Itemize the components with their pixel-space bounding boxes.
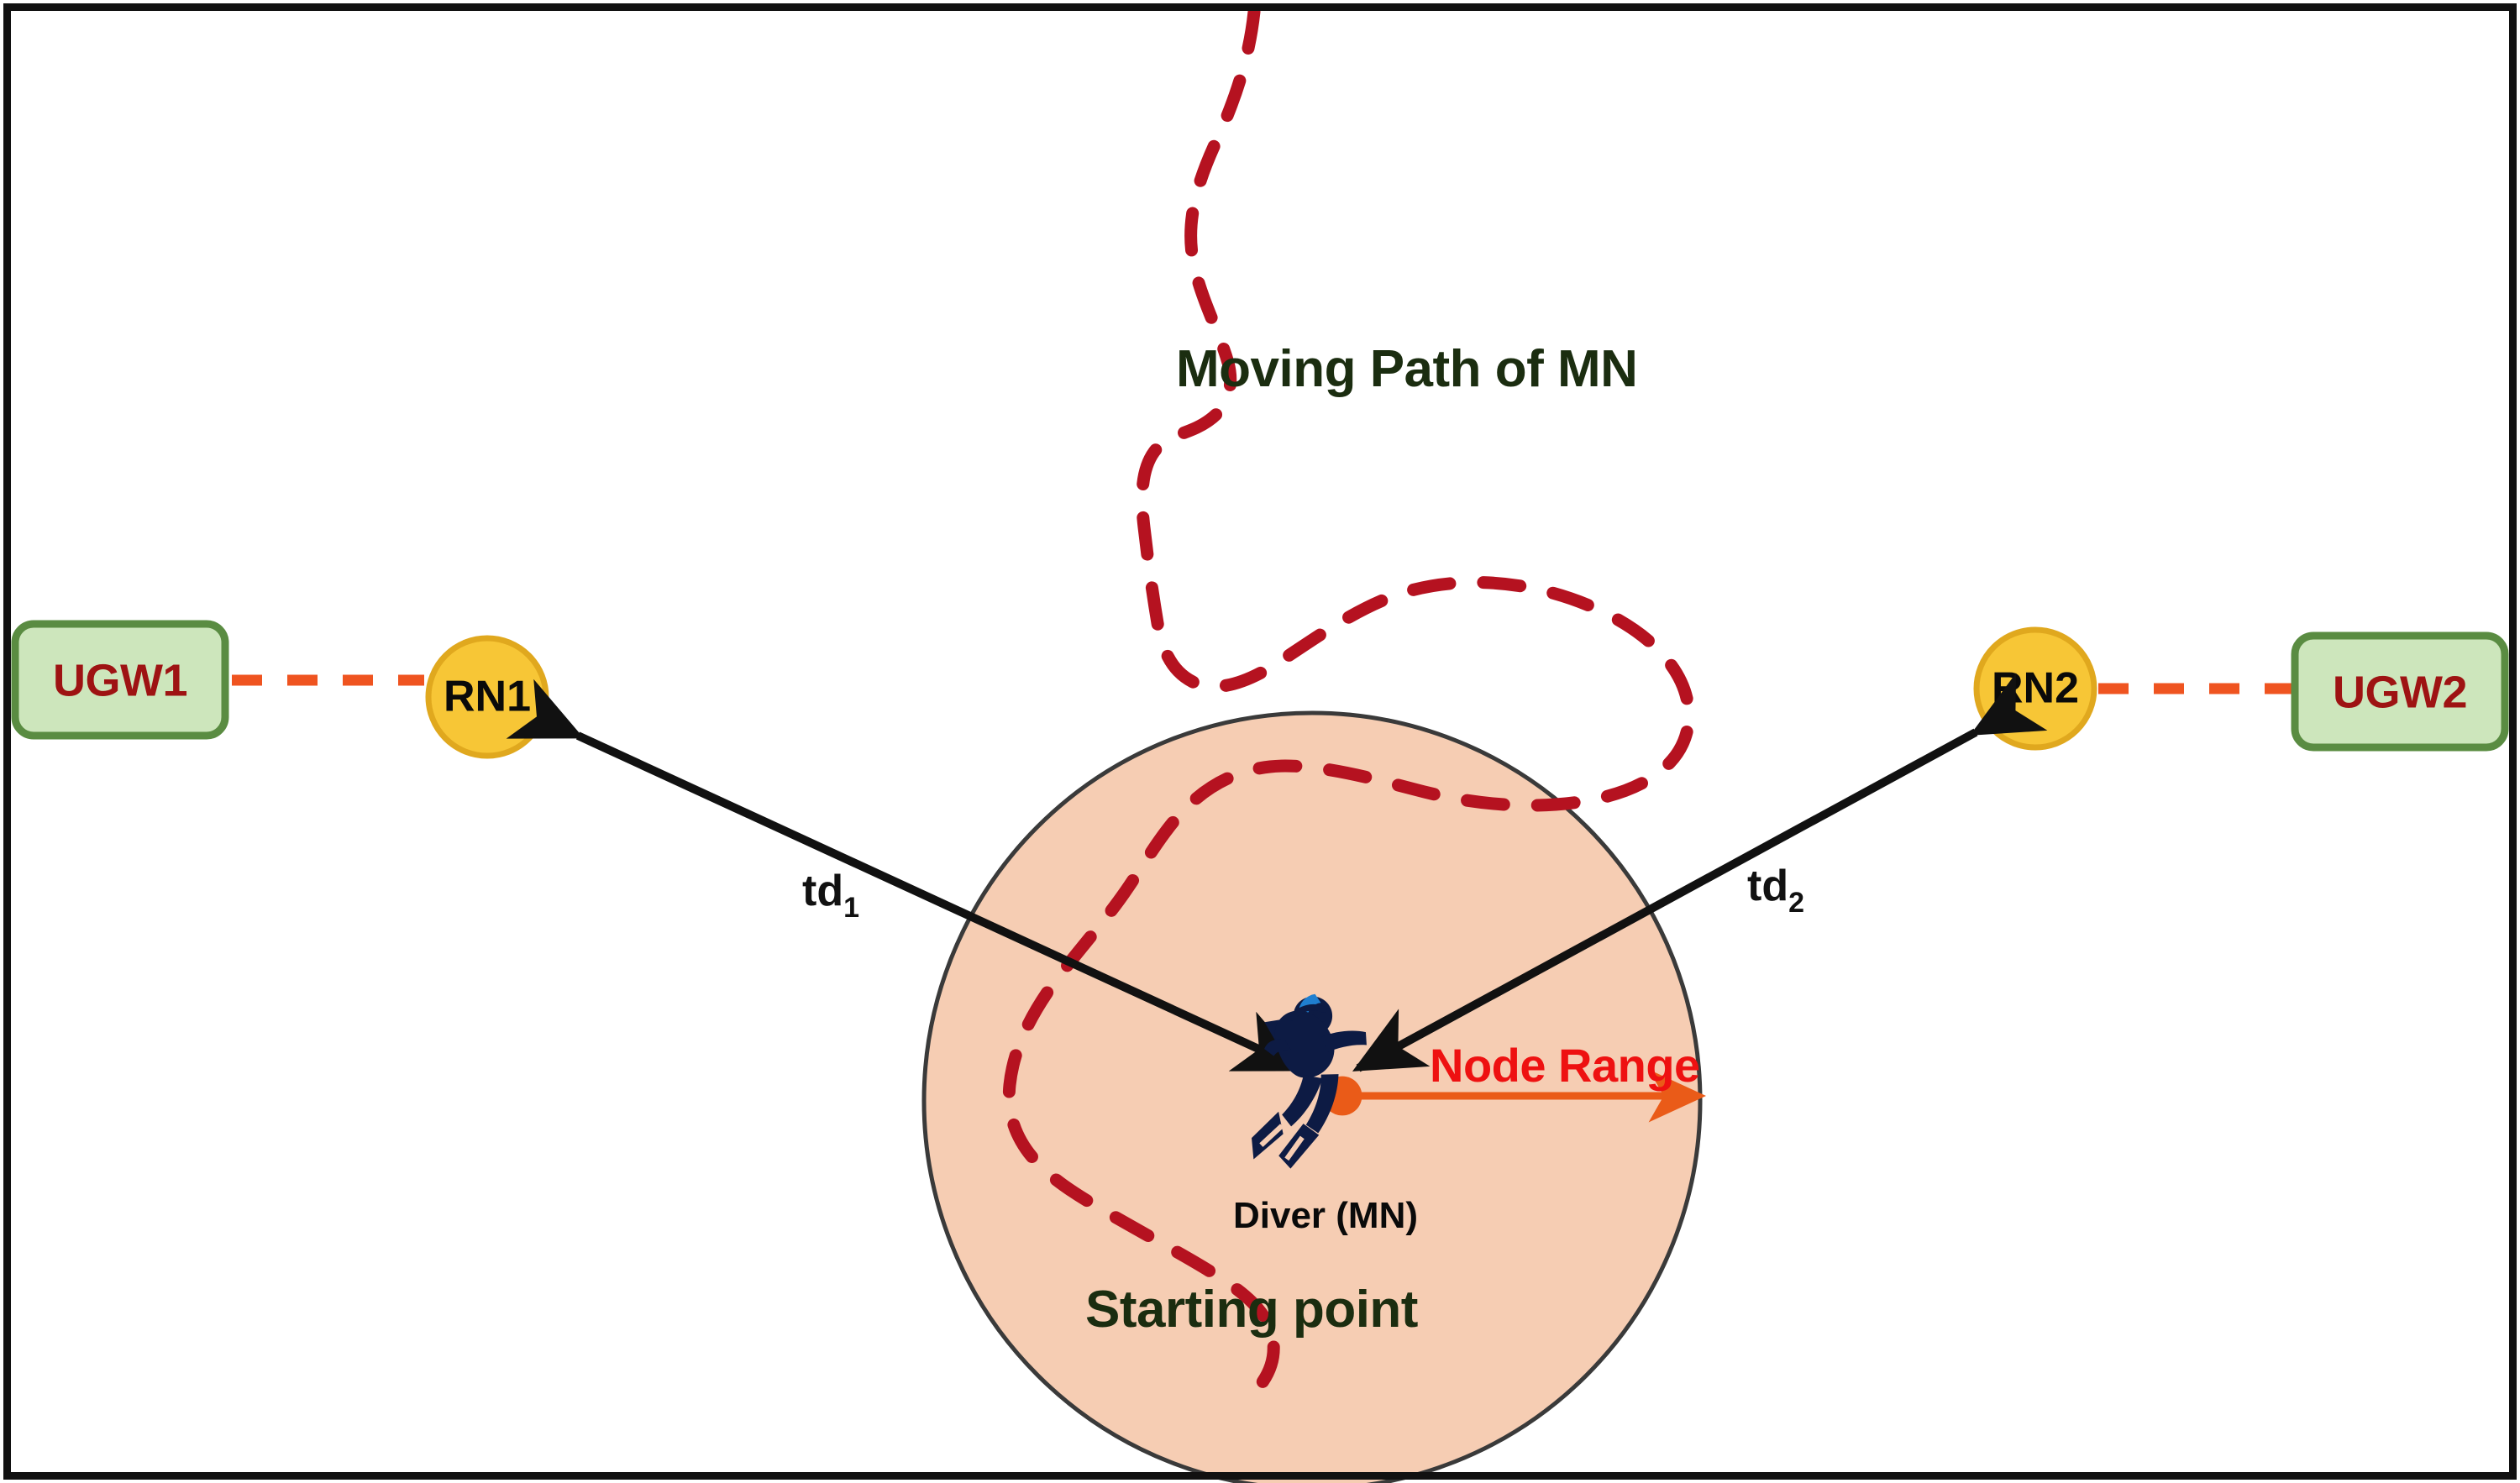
figure-root: Moving Path of MN UGW1 RN1 RN2 UGW2 [0,0,2520,1483]
distance-label-td1: td1 [802,867,859,924]
diver-label: Diver (MN) [1233,1195,1418,1236]
relay-node-rn2-label: RN2 [1992,664,2079,713]
gateway-ugw2[interactable]: UGW2 [2295,636,2505,747]
td1-symbol: td [802,867,843,915]
node-range-label: Node Range [1430,1039,1700,1092]
td1-subscript: 1 [843,892,859,924]
starting-point-label: Starting point [1085,1281,1418,1339]
distance-label-td2: td2 [1747,862,1804,919]
svg-text:td2: td2 [1747,862,1804,919]
td2-symbol: td [1747,862,1788,910]
diagram-canvas: Moving Path of MN UGW1 RN1 RN2 UGW2 [0,0,2520,1483]
relay-node-rn2[interactable]: RN2 [1977,630,2094,747]
gateway-ugw2-label: UGW2 [2333,667,2467,717]
gateway-ugw1-label: UGW1 [53,655,187,705]
relay-node-rn1-label: RN1 [444,673,531,721]
relay-node-rn1[interactable]: RN1 [428,638,546,756]
svg-text:td1: td1 [802,867,859,924]
gateway-ugw1[interactable]: UGW1 [15,624,225,736]
td2-subscript: 2 [1788,887,1804,919]
moving-path-label: Moving Path of MN [1176,340,1637,398]
